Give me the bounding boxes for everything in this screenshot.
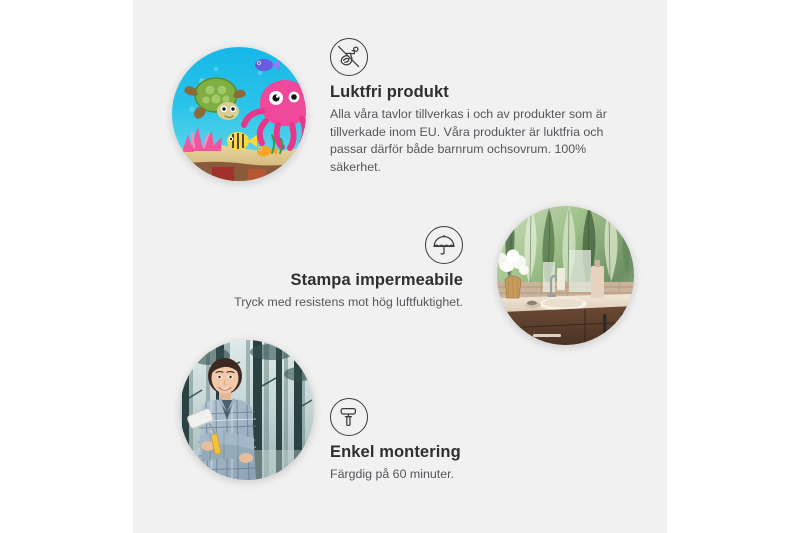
no-fragrance-icon (330, 38, 368, 76)
feature-waterproof: Stampa impermeabile Tryck med resistens … (210, 226, 463, 312)
product-feature-graphic: Luktfri produkt Alla våra tavlor tillver… (0, 0, 800, 533)
feature-body: Färgdig på 60 minuter. (330, 466, 590, 484)
feature-title: Stampa impermeabile (210, 271, 463, 290)
photo-underwater (172, 47, 306, 181)
photo-bathroom (497, 206, 634, 345)
feature-title: Luktfri produkt (330, 83, 630, 102)
feature-odour-free: Luktfri produkt Alla våra tavlor tillver… (330, 38, 630, 176)
feature-body: Alla våra tavlor tillverkas i och av pro… (330, 106, 630, 176)
umbrella-icon (425, 226, 463, 264)
paint-roller-icon (330, 398, 368, 436)
feature-easy-mounting: Enkel montering Färgdig på 60 minuter. (330, 398, 590, 484)
feature-title: Enkel montering (330, 443, 590, 462)
feature-body: Tryck med resistens mot hög luftfuktighe… (210, 294, 463, 312)
photo-forest (180, 340, 314, 480)
